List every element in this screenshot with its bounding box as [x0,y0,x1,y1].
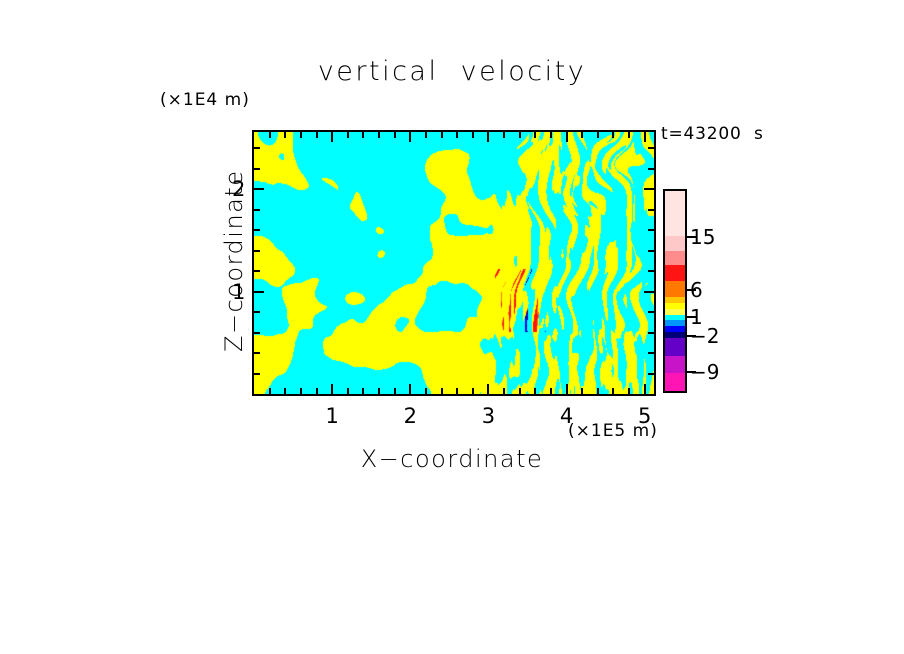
y-tick-minor-right [648,168,654,170]
x-tick-minor-top [269,132,271,138]
y-tick-major [254,188,264,190]
x-tick-minor [300,388,302,394]
x-tick-minor [472,388,474,394]
y-tick-minor [254,332,260,334]
x-tick-minor [628,388,630,394]
y-tick-minor-right [648,147,654,149]
x-tick-label: 2 [404,404,417,428]
x-tick-minor-top [378,132,380,138]
x-tick-minor-top [441,132,443,138]
x-tick-minor [425,388,427,394]
y-tick-minor [254,352,260,354]
x-tick-minor [362,388,364,394]
y-tick-minor [254,209,260,211]
x-tick-major [644,384,646,394]
x-tick-minor [441,388,443,394]
x-tick-minor [456,388,458,394]
colorbar-band [665,338,685,356]
colorbar-band [665,281,685,297]
y-tick-minor [254,373,260,375]
y-tick-major-right [644,291,654,293]
y-tick-minor-right [648,352,654,354]
x-tick-minor-top [456,132,458,138]
x-tick-minor-top [534,132,536,138]
y-tick-minor-right [648,209,654,211]
colorbar-band [665,373,685,391]
x-tick-minor [519,388,521,394]
y-tick-minor [254,311,260,313]
y-tick-minor [254,229,260,231]
x-tick-major-top [644,132,646,142]
x-tick-major [566,384,568,394]
colorbar-band [665,265,685,281]
colorbar-band [665,356,685,374]
x-tick-minor-top [597,132,599,138]
x-tick-minor-top [612,132,614,138]
x-tick-minor [597,388,599,394]
x-tick-minor-top [316,132,318,138]
x-tick-minor [347,388,349,394]
y-tick-minor [254,168,260,170]
x-tick-minor [394,388,396,394]
x-tick-minor [612,388,614,394]
colorbar-tick-label: 15 [690,225,715,249]
x-tick-minor-top [394,132,396,138]
y-axis-title: Z−coordinate [222,169,246,352]
x-tick-minor-top [300,132,302,138]
x-tick-minor [378,388,380,394]
y-tick-minor-right [648,311,654,313]
x-tick-minor-top [628,132,630,138]
x-tick-minor-top [550,132,552,138]
x-tick-minor [284,388,286,394]
x-tick-minor-top [284,132,286,138]
colorbar-tick-label: −9 [690,360,719,384]
x-tick-minor [503,388,505,394]
y-tick-major-right [644,188,654,190]
x-tick-major-top [409,132,411,142]
x-tick-major [409,384,411,394]
y-axis-unit-label: (×1E4 m) [160,92,250,109]
time-annotation: t=43200 s [661,126,764,143]
x-tick-minor-top [472,132,474,138]
x-tick-minor [550,388,552,394]
x-tick-major-top [487,132,489,142]
figure-canvas: vertical velocity (×1E4 m) t=43200 s 123… [0,0,904,654]
colorbar-tick-label: 6 [690,278,703,302]
x-tick-major [487,384,489,394]
colorbar-band [665,251,685,265]
x-tick-minor [316,388,318,394]
y-tick-minor-right [648,332,654,334]
x-tick-minor-top [581,132,583,138]
x-tick-minor-top [362,132,364,138]
x-tick-minor-top [425,132,427,138]
y-tick-minor [254,250,260,252]
y-tick-minor [254,270,260,272]
y-tick-minor-right [648,270,654,272]
plot-area [252,130,656,396]
y-tick-minor-right [648,373,654,375]
colorbar-band [665,191,685,236]
colorbar-band [665,236,685,250]
y-tick-minor-right [648,229,654,231]
y-tick-minor [254,147,260,149]
colorbar [663,189,687,393]
x-axis-unit-label: (×1E5 m) [568,423,658,440]
page-title: vertical velocity [0,58,904,85]
contour-field [254,132,654,394]
x-tick-major [331,384,333,394]
x-tick-minor [534,388,536,394]
y-tick-major [254,291,264,293]
x-tick-label: 3 [482,404,495,428]
x-tick-label: 1 [325,404,338,428]
x-tick-minor-top [347,132,349,138]
x-tick-minor-top [503,132,505,138]
y-tick-minor-right [648,250,654,252]
x-tick-minor [269,388,271,394]
x-tick-major-top [566,132,568,142]
x-tick-minor-top [519,132,521,138]
x-tick-minor [581,388,583,394]
x-tick-major-top [331,132,333,142]
x-axis-title: X−coordinate [252,447,652,471]
colorbar-tick-label: −2 [690,324,719,348]
